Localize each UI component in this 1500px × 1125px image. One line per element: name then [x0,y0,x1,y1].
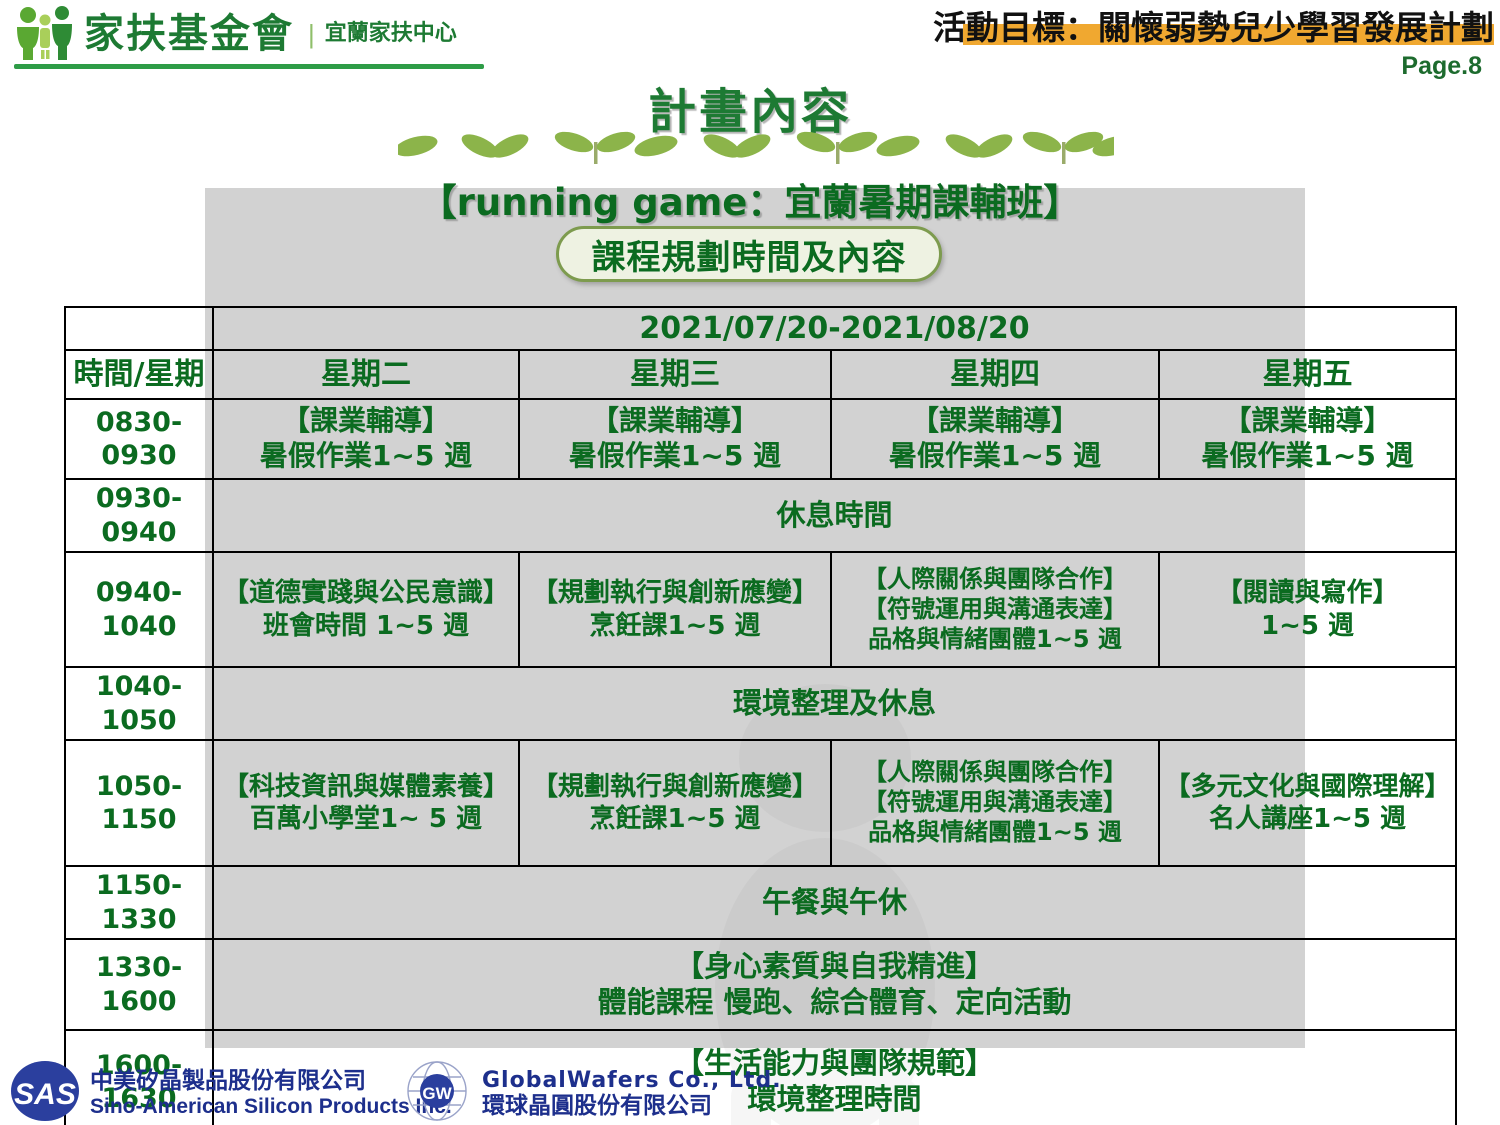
table-header-row: 時間/星期星期二星期三星期四星期五 [65,350,1456,399]
schedule-band-cell: 【身心素質與自我精進】體能課程 慢跑、綜合體育、定向活動 [213,939,1456,1030]
organization-logo: 家扶基金會 | 宜蘭家扶中心 [14,4,457,64]
banner-label: 活動目標：關懷弱勢兒少學習發展計劃 [933,1,1500,49]
sas-oval-logo-icon: SAS [10,1060,80,1125]
table-row: 0930-0940休息時間 [65,479,1456,552]
schedule-band-cell: 休息時間 [213,479,1456,552]
program-subtitle: 【running game：宜蘭暑期課輔班】 [0,172,1500,226]
column-header-weekday: 星期二 [213,350,519,399]
table-row: 0940-1040【道德實踐與公民意識】班會時間 1~5 週【規劃執行與創新應變… [65,552,1456,667]
sponsor-gw-line2: 環球晶圓股份有限公司 [482,1093,782,1119]
schedule-cell: 【科技資訊與媒體素養】百萬小學堂1~ 5 週 [213,740,519,866]
sponsor-footer: SAS 中美矽晶製品股份有限公司 Sino-American Silicon P… [0,1056,1500,1125]
svg-text:SAS: SAS [14,1078,76,1111]
time-slot-cell: 1150-1330 [65,866,213,939]
column-header-weekday: 星期五 [1159,350,1456,399]
sponsor-globalwafers: GW GlobalWafers Co., Ltd. 環球晶圓股份有限公司 [402,1060,782,1125]
activity-goal-banner: 活動目標：關懷弱勢兒少學習發展計劃 [933,2,1500,48]
logo-separator: | [308,19,315,50]
globalwafers-globe-logo-icon: GW [402,1060,472,1125]
column-header-time: 時間/星期 [65,350,213,399]
sponsor-sas: SAS 中美矽晶製品股份有限公司 Sino-American Silicon P… [10,1060,452,1125]
schedule-cell: 【規劃執行與創新應變】烹飪課1~5 週 [519,740,831,866]
time-slot-cell: 0830-0930 [65,399,213,479]
table-row: 1330-1600【身心素質與自我精進】體能課程 慢跑、綜合體育、定向活動 [65,939,1456,1030]
schedule-cell: 【多元文化與國際理解】名人講座1~5 週 [1159,740,1456,866]
schedule-band-cell: 環境整理及休息 [213,667,1456,740]
sponsor-gw-line1: GlobalWafers Co., Ltd. [482,1068,782,1093]
date-range-spacer [65,307,213,350]
schedule-table: 2021/07/20-2021/08/20時間/星期星期二星期三星期四星期五08… [64,306,1457,1125]
schedule-cell: 【道德實踐與公民意識】班會時間 1~5 週 [213,552,519,667]
sponsor-sas-line2: Sino-American Silicon Products Inc. [90,1095,452,1119]
table-row: 1050-1150【科技資訊與媒體素養】百萬小學堂1~ 5 週【規劃執行與創新應… [65,740,1456,866]
section-pill-label: 課程規劃時間及內容 [592,230,907,279]
column-header-weekday: 星期三 [519,350,831,399]
svg-text:GW: GW [422,1084,452,1103]
schedule-cell: 【閱讀與寫作】1~5 週 [1159,552,1456,667]
logo-underline-rule [14,64,484,69]
section-pill-badge: 課程規劃時間及內容 [556,226,942,282]
family-figures-logo-icon [14,6,76,62]
slide-page: 家扶基金會 | 宜蘭家扶中心 活動目標：關懷弱勢兒少學習發展計劃 Page.8 … [0,0,1500,1125]
table-row-date-range: 2021/07/20-2021/08/20 [65,307,1456,350]
organization-name: 家扶基金會 [84,14,294,54]
sponsor-sas-line1: 中美矽晶製品股份有限公司 [90,1068,452,1094]
schedule-cell: 【人際關係與團隊合作】【符號運用與溝通表達】品格與情緒團體1~5 週 [831,740,1159,866]
column-header-weekday: 星期四 [831,350,1159,399]
schedule-cell: 【人際關係與團隊合作】【符號運用與溝通表達】品格與情緒團體1~5 週 [831,552,1159,667]
time-slot-cell: 1040-1050 [65,667,213,740]
schedule-cell: 【規劃執行與創新應變】烹飪課1~5 週 [519,552,831,667]
time-slot-cell: 1050-1150 [65,740,213,866]
schedule-cell: 【課業輔導】暑假作業1~5 週 [831,399,1159,479]
time-slot-cell: 0930-0940 [65,479,213,552]
table-row: 1150-1330午餐與午休 [65,866,1456,939]
time-slot-cell: 1330-1600 [65,939,213,1030]
schedule-cell: 【課業輔導】暑假作業1~5 週 [519,399,831,479]
table-row: 0830-0930【課業輔導】暑假作業1~5 週【課業輔導】暑假作業1~5 週【… [65,399,1456,479]
schedule-cell: 【課業輔導】暑假作業1~5 週 [213,399,519,479]
branch-name: 宜蘭家扶中心 [325,23,457,45]
table-row: 1040-1050環境整理及休息 [65,667,1456,740]
schedule-band-cell: 午餐與午休 [213,866,1456,939]
date-range-cell: 2021/07/20-2021/08/20 [213,307,1456,350]
time-slot-cell: 0940-1040 [65,552,213,667]
sprout-row-icon [398,124,1114,168]
schedule-cell: 【課業輔導】暑假作業1~5 週 [1159,399,1456,479]
